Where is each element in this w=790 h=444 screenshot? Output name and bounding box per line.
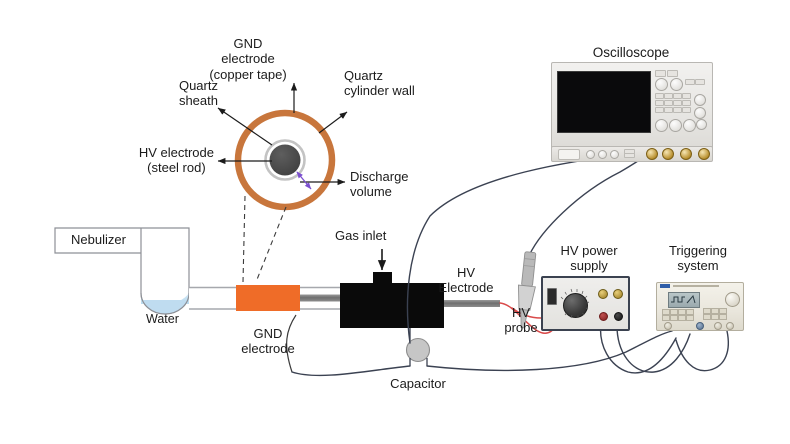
scope-btn-4[interactable] bbox=[695, 79, 705, 85]
label-gnd-electrode: GND electrode bbox=[241, 326, 294, 357]
discharge-gap-arrow bbox=[297, 172, 311, 189]
trig-output-4[interactable] bbox=[726, 322, 734, 330]
scope-btn-12[interactable] bbox=[682, 100, 691, 106]
bnc-channel-3[interactable] bbox=[680, 148, 692, 160]
scope-btn-3[interactable] bbox=[685, 79, 695, 85]
scope-btn-15[interactable] bbox=[673, 107, 682, 113]
triggering-brand-logo-icon bbox=[660, 284, 670, 288]
lcd-waveform-icon bbox=[669, 293, 699, 307]
scope-knob-7[interactable] bbox=[683, 119, 696, 132]
trig-btn-5[interactable] bbox=[662, 315, 670, 321]
output-terminal-black[interactable] bbox=[614, 312, 623, 321]
label-capacitor: Capacitor bbox=[390, 376, 446, 391]
scope-knob-6[interactable] bbox=[669, 119, 682, 132]
voltage-dial-scale bbox=[555, 285, 595, 325]
label-discharge-volume: Discharge volume bbox=[350, 169, 409, 200]
scope-btn-9[interactable] bbox=[655, 100, 664, 106]
cross-section-group bbox=[218, 83, 347, 282]
output-terminal-2[interactable] bbox=[613, 289, 623, 299]
scope-knob-4[interactable] bbox=[694, 107, 706, 119]
trig-btn-6[interactable] bbox=[670, 315, 678, 321]
label-quartz-sheath: Quartz sheath bbox=[179, 78, 218, 109]
label-hv-probe: HV probe bbox=[504, 305, 537, 336]
trig-btn-12[interactable] bbox=[703, 314, 711, 320]
trig-btn-3[interactable] bbox=[678, 309, 686, 315]
label-triggering-system: Triggering system bbox=[669, 243, 727, 274]
label-hv-electrode: HV Electrode bbox=[439, 265, 494, 296]
scope-knob-1[interactable] bbox=[655, 78, 668, 91]
leader-quartz-cylinder-wall bbox=[319, 112, 347, 133]
steel-rod-segment-left bbox=[300, 295, 342, 302]
triggering-system[interactable] bbox=[656, 282, 744, 331]
triggering-main-knob[interactable] bbox=[725, 292, 740, 307]
hv-probe-barrel bbox=[521, 252, 535, 287]
label-oscilloscope: Oscilloscope bbox=[593, 45, 670, 61]
oscilloscope-control-panel[interactable] bbox=[654, 70, 706, 136]
scope-base-knob-2[interactable] bbox=[598, 150, 607, 159]
label-gas-inlet: Gas inlet bbox=[335, 228, 386, 243]
steel-rod-segment-right bbox=[444, 300, 500, 307]
oscilloscope[interactable] bbox=[551, 62, 711, 160]
capacitor-group bbox=[407, 328, 430, 366]
hv-electrode-core bbox=[270, 145, 301, 176]
trig-btn-13[interactable] bbox=[711, 314, 719, 320]
trig-output-2[interactable] bbox=[696, 322, 704, 330]
output-terminal-1[interactable] bbox=[598, 289, 608, 299]
scope-btn-1[interactable] bbox=[655, 70, 666, 77]
oscilloscope-screen[interactable] bbox=[557, 71, 651, 133]
gas-inlet-port bbox=[373, 272, 392, 284]
trig-btn-14[interactable] bbox=[719, 314, 727, 320]
scope-knob-5[interactable] bbox=[655, 119, 668, 132]
gnd-electrode-block bbox=[236, 285, 300, 311]
trig-btn-11[interactable] bbox=[719, 308, 727, 314]
label-hv-electrode-steel-rod: HV electrode (steel rod) bbox=[139, 145, 214, 176]
transport-tube-group bbox=[189, 287, 236, 309]
scope-btn-6[interactable] bbox=[664, 93, 673, 99]
trig-btn-9[interactable] bbox=[703, 308, 711, 314]
projection-line-right bbox=[256, 207, 286, 282]
scope-base-knob-1[interactable] bbox=[586, 150, 595, 159]
scope-btn-16[interactable] bbox=[682, 107, 691, 113]
label-hv-power-supply: HV power supply bbox=[560, 243, 617, 274]
trig-btn-10[interactable] bbox=[711, 308, 719, 314]
scope-knob-3[interactable] bbox=[694, 94, 706, 106]
trig-output-1[interactable] bbox=[664, 322, 672, 330]
scope-base-knob-3[interactable] bbox=[610, 150, 619, 159]
output-terminal-red[interactable] bbox=[599, 312, 608, 321]
scope-btn-2[interactable] bbox=[667, 70, 678, 77]
hv-power-supply[interactable] bbox=[541, 276, 630, 331]
bnc-channel-2[interactable] bbox=[662, 148, 674, 160]
label-nebulizer: Nebulizer bbox=[71, 232, 126, 247]
projection-line-left bbox=[243, 196, 245, 282]
trig-btn-7[interactable] bbox=[678, 315, 686, 321]
bnc-channel-4[interactable] bbox=[698, 148, 710, 160]
tube-left-fill bbox=[189, 287, 235, 309]
wire-triggering-loop bbox=[676, 331, 728, 371]
wire-capacitor-to-triggering bbox=[427, 331, 672, 370]
scope-btn-7[interactable] bbox=[673, 93, 682, 99]
scope-btn-10[interactable] bbox=[664, 100, 673, 106]
scope-knob-2[interactable] bbox=[670, 78, 683, 91]
trig-btn-4[interactable] bbox=[686, 309, 694, 315]
trig-btn-1[interactable] bbox=[662, 309, 670, 315]
trig-btn-8[interactable] bbox=[686, 315, 694, 321]
scope-btn-11[interactable] bbox=[673, 100, 682, 106]
label-water: Water bbox=[146, 312, 179, 327]
diagram-canvas: GND electrode (copper tape) Quartz sheat… bbox=[0, 0, 790, 444]
trig-btn-2[interactable] bbox=[670, 309, 678, 315]
scope-softkey-block[interactable] bbox=[558, 149, 580, 160]
scope-base-btn-2[interactable] bbox=[624, 153, 635, 158]
scope-btn-13[interactable] bbox=[655, 107, 664, 113]
trig-output-3[interactable] bbox=[714, 322, 722, 330]
triggering-model-text-strip bbox=[673, 285, 719, 287]
scope-knob-8[interactable] bbox=[696, 119, 707, 130]
gas-inlet-body bbox=[340, 283, 444, 328]
scope-btn-5[interactable] bbox=[655, 93, 664, 99]
triggering-lcd-display bbox=[668, 292, 700, 308]
wire-gnd-to-capacitor bbox=[292, 366, 410, 375]
bnc-channel-1[interactable] bbox=[646, 148, 658, 160]
scope-btn-8[interactable] bbox=[682, 93, 691, 99]
scope-btn-14[interactable] bbox=[664, 107, 673, 113]
label-gnd-electrode-copper-tape: GND electrode (copper tape) bbox=[209, 36, 286, 82]
label-quartz-cylinder-wall: Quartz cylinder wall bbox=[344, 68, 415, 99]
